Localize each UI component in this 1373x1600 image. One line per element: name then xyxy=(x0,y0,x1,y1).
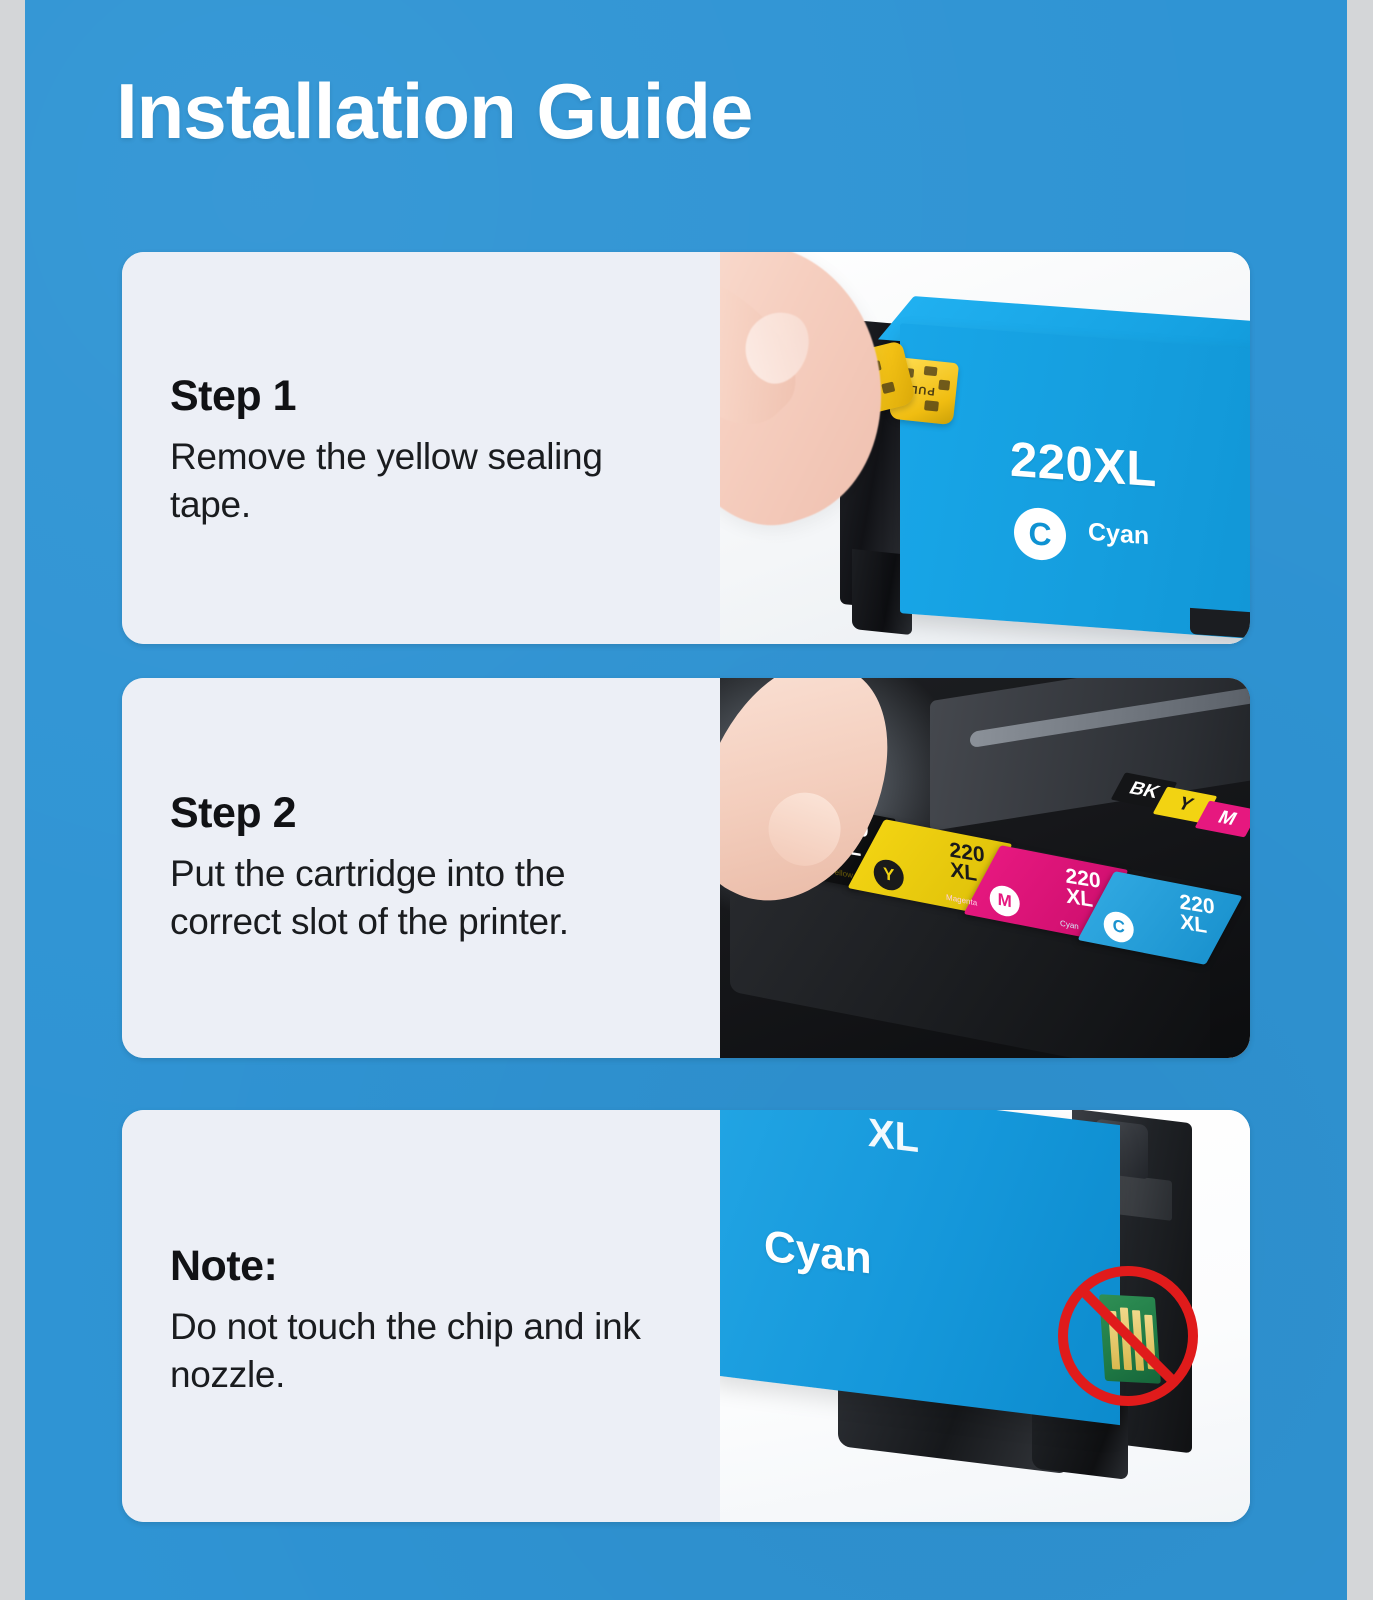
step-2-image: BK Y M 220XL B Black 220XL Y Yellow xyxy=(720,678,1250,1058)
page-title: Installation Guide xyxy=(116,72,752,150)
step-2-text-pane: Step 2 Put the cartridge into the correc… xyxy=(122,678,720,1058)
step-card-1: Step 1 Remove the yellow sealing tape. C… xyxy=(122,252,1250,644)
step-2-body: Put the cartridge into the correct slot … xyxy=(170,850,680,945)
note-card: Note: Do not touch the chip and ink nozz… xyxy=(122,1110,1250,1522)
step-1-image: C Cyan 220XL 220XL C Cyan PULL xyxy=(720,252,1250,644)
cartridge-color-name: Cyan xyxy=(1088,518,1149,551)
step-2-heading: Step 2 xyxy=(170,791,680,836)
slot-yellow-badge: Y xyxy=(874,857,904,893)
note-heading: Note: xyxy=(170,1244,680,1289)
page-root: Installation Guide Step 1 Remove the yel… xyxy=(0,0,1373,1600)
slot-yellow-model: 220XL xyxy=(949,840,985,886)
cartridge-model-label: 220XL xyxy=(1010,432,1157,499)
step-1-text-pane: Step 1 Remove the yellow sealing tape. xyxy=(122,252,720,644)
cartridge-model-partial-label: XL xyxy=(868,1111,919,1162)
step-1-body: Remove the yellow sealing tape. xyxy=(170,433,680,528)
cartridge-foot-right xyxy=(1190,608,1250,638)
note-image: XL Cyan xyxy=(720,1110,1250,1522)
note-body: Do not touch the chip and ink nozzle. xyxy=(170,1303,680,1398)
guide-canvas: Installation Guide Step 1 Remove the yel… xyxy=(25,0,1347,1600)
note-text-pane: Note: Do not touch the chip and ink nozz… xyxy=(122,1110,720,1522)
slot-cyan-badge: C xyxy=(1104,909,1134,945)
thumbnail-graphic xyxy=(734,302,820,393)
step-card-2: Step 2 Put the cartridge into the correc… xyxy=(122,678,1250,1058)
slot-magenta-badge: M xyxy=(990,883,1020,919)
thumb-graphic xyxy=(720,252,818,447)
prohibition-icon xyxy=(1058,1266,1198,1406)
slot-cyan-model: 220XL xyxy=(1179,892,1215,938)
step-1-heading: Step 1 xyxy=(170,374,680,419)
fingertip-graphic xyxy=(754,778,856,880)
